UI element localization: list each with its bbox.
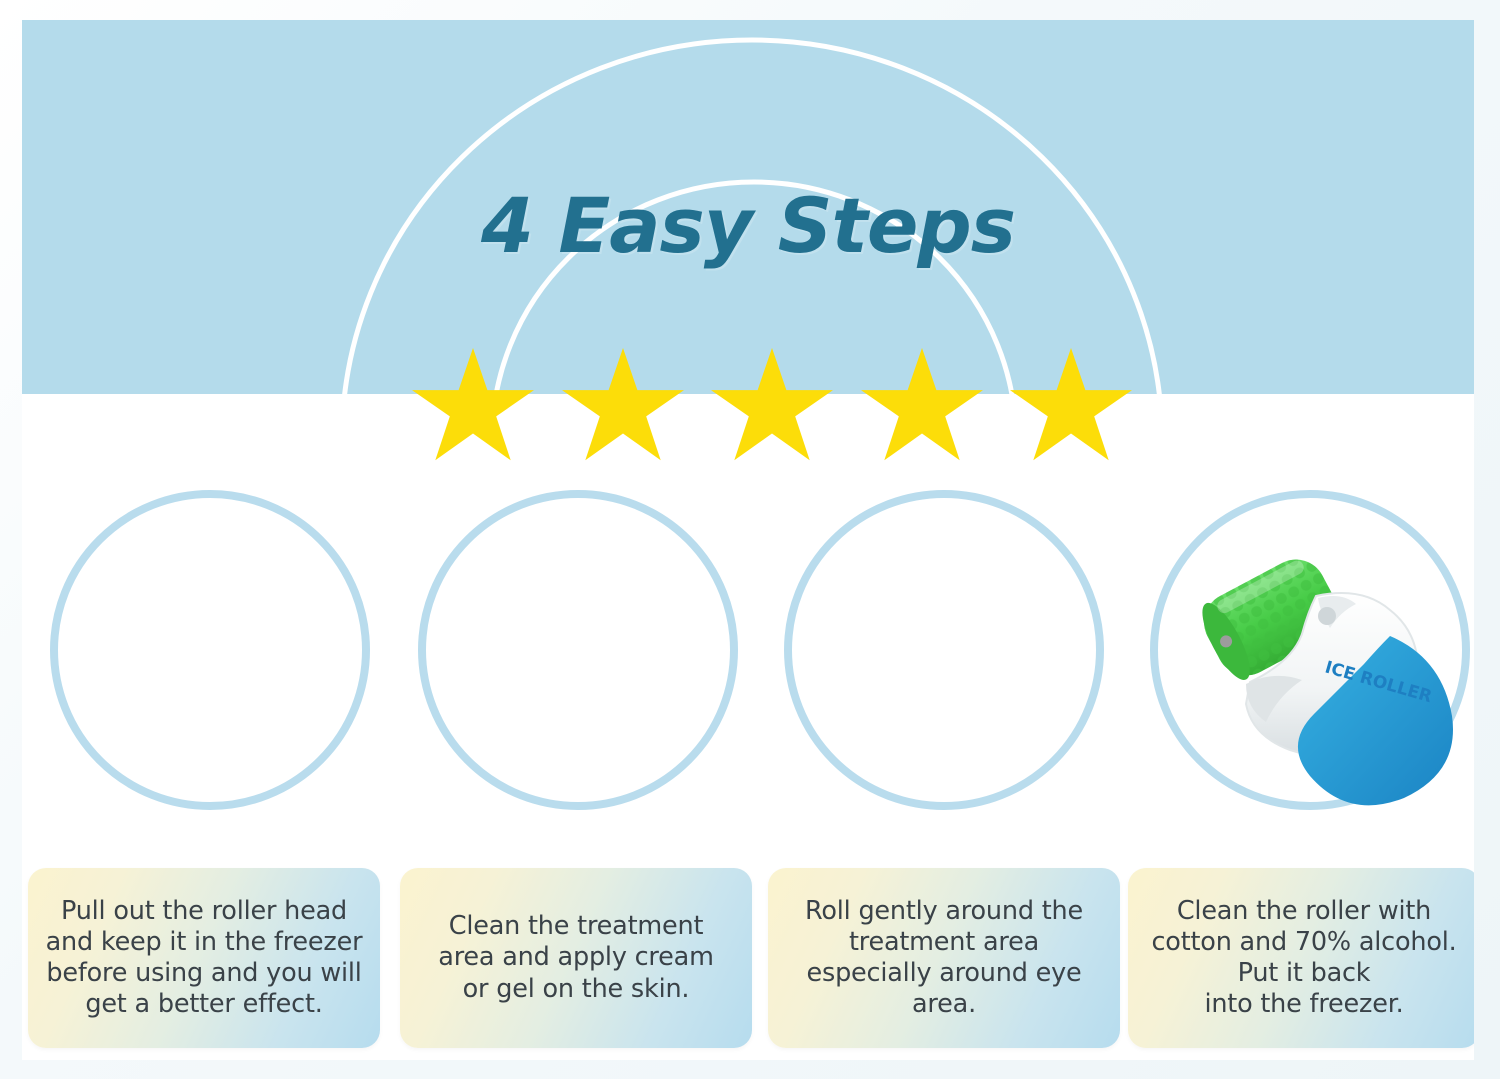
step-image-1-ring [50, 490, 370, 810]
step-image-3-ring [784, 490, 1104, 810]
step-caption-2: Clean the treatment area and apply cream… [400, 868, 752, 1048]
header-banner: 4 Easy Steps [22, 20, 1474, 394]
step-image-4-photo: ICE ROLLER [1158, 498, 1462, 802]
star-rating [412, 348, 1132, 468]
star-icon [861, 348, 983, 464]
step-caption-1-text: Pull out the roller head and keep it in … [46, 896, 363, 1020]
step-caption-3: Roll gently around the treatment area es… [768, 868, 1120, 1048]
step-caption-3-text: Roll gently around the treatment area es… [805, 896, 1083, 1020]
step-image-3: ICE ROLLER [774, 480, 1114, 820]
star-icon [562, 348, 684, 464]
star-icon [412, 348, 534, 464]
step-caption-4-text: Clean the roller with cotton and 70% alc… [1151, 896, 1456, 1020]
infographic-page: 4 Easy Steps [0, 0, 1500, 1079]
infographic-card: 4 Easy Steps [22, 20, 1474, 1060]
step-image-1 [40, 480, 380, 820]
step-images-row: ICE ROLLER [22, 480, 1474, 850]
star-icon [711, 348, 833, 464]
step-image-2-ring [418, 490, 738, 810]
ice-roller-product-photo: ICE ROLLER [1128, 488, 1474, 818]
step-image-4: ICE ROLLER [1140, 480, 1474, 820]
step-caption-1: Pull out the roller head and keep it in … [28, 868, 380, 1048]
star-icon [1010, 348, 1132, 464]
step-caption-4: Clean the roller with cotton and 70% alc… [1128, 868, 1474, 1048]
step-caption-2-text: Clean the treatment area and apply cream… [438, 911, 713, 1004]
step-image-2 [408, 480, 748, 820]
step-captions-row: Pull out the roller head and keep it in … [22, 868, 1474, 1060]
page-title: 4 Easy Steps [22, 188, 1474, 264]
